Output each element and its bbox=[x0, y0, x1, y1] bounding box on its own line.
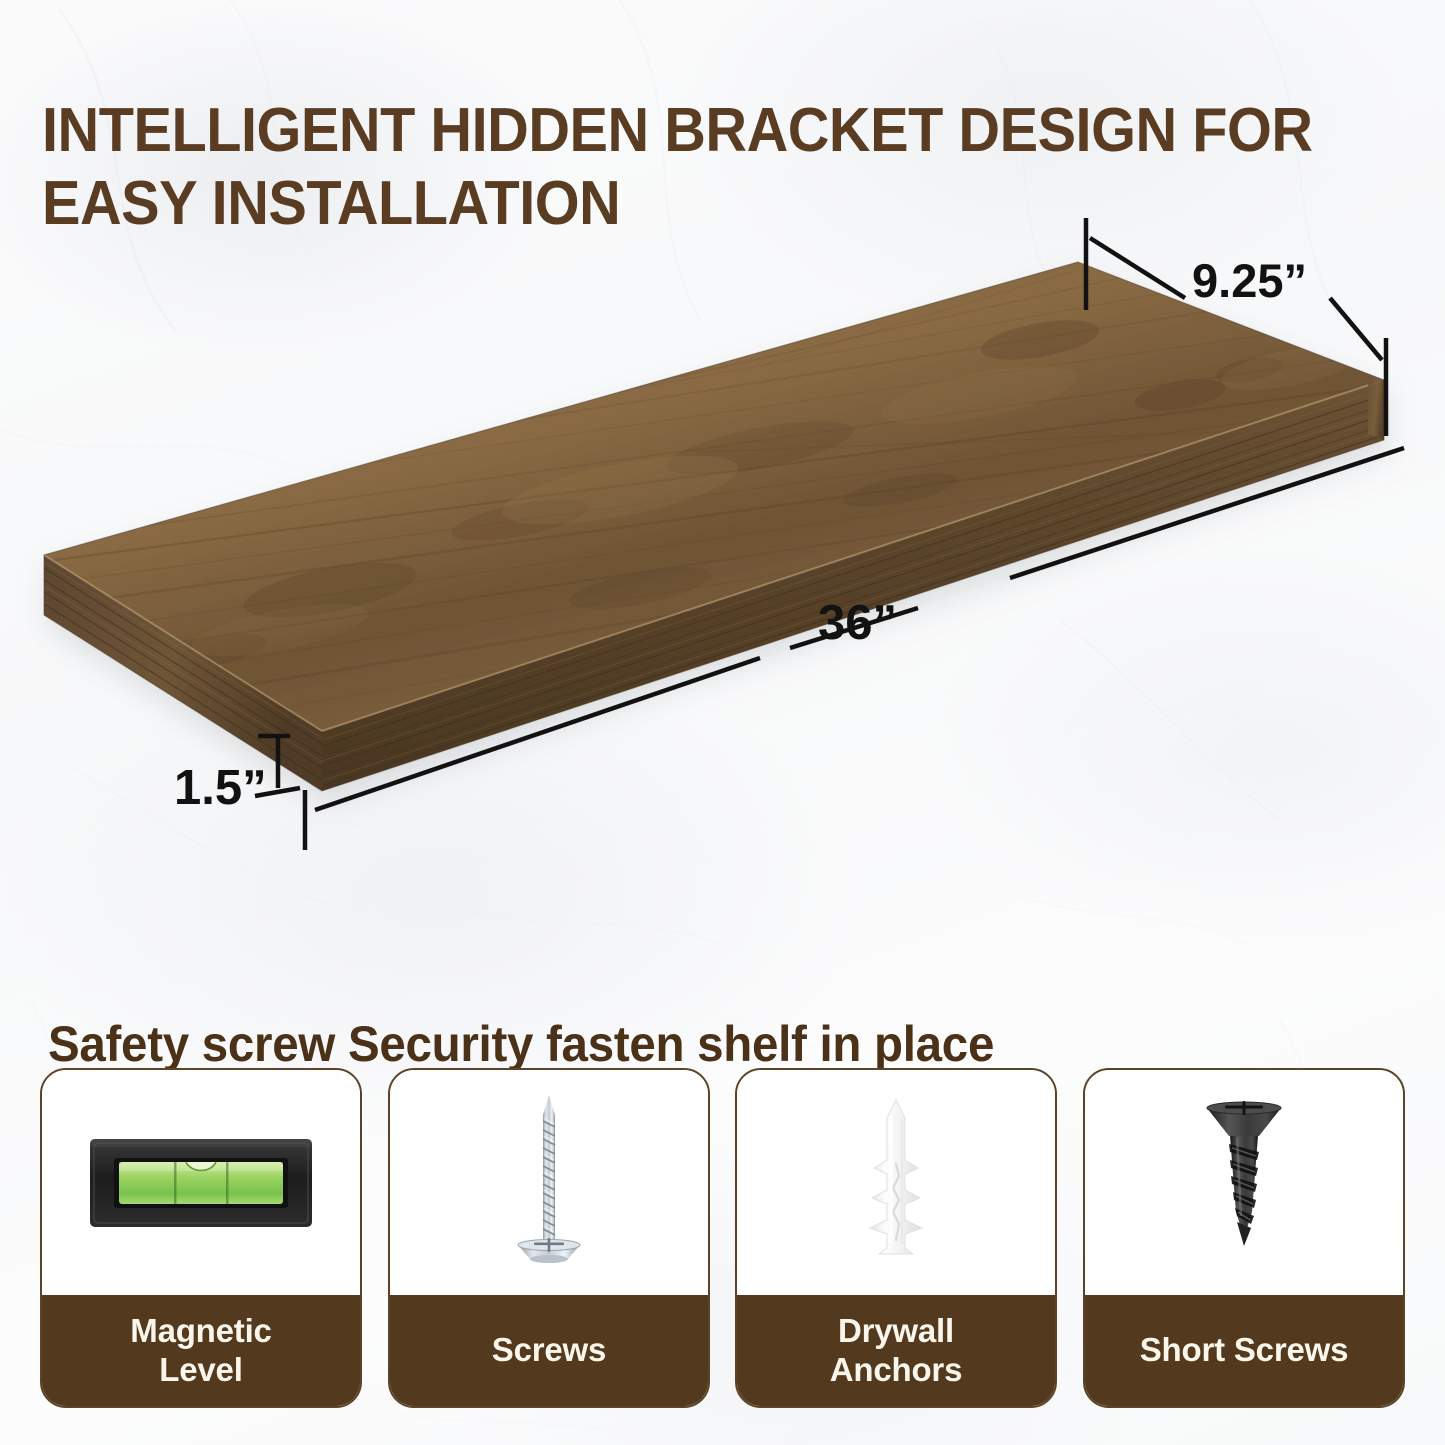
hardware-card-screws[interactable]: Screws bbox=[388, 1068, 710, 1408]
drywall-anchor-icon bbox=[841, 1094, 951, 1274]
card-label-text: Short Screws bbox=[1140, 1331, 1349, 1369]
card-label-short-screws: Short Screws bbox=[1085, 1295, 1403, 1406]
dimension-label-depth: 9.25” bbox=[1192, 253, 1307, 308]
card-label-text: Drywall Anchors bbox=[830, 1312, 962, 1389]
card-label-text: Screws bbox=[492, 1331, 606, 1369]
shelf-board bbox=[30, 262, 1384, 791]
shelf-illustration: 9.25” 36” 1.5” bbox=[0, 190, 1445, 890]
hardware-card-short-screws[interactable]: Short Screws bbox=[1083, 1068, 1405, 1408]
card-label-screws: Screws bbox=[390, 1295, 708, 1406]
hardware-card-magnetic-level[interactable]: Magnetic Level bbox=[40, 1068, 362, 1408]
hardware-card-drywall-anchors[interactable]: Drywall Anchors bbox=[735, 1068, 1057, 1408]
card-image-area bbox=[1085, 1070, 1403, 1297]
dimension-label-length: 36” bbox=[818, 595, 897, 651]
card-image-area bbox=[737, 1070, 1055, 1297]
card-label-drywall-anchors: Drywall Anchors bbox=[737, 1295, 1055, 1406]
card-image-area bbox=[390, 1070, 708, 1297]
card-image-area bbox=[42, 1070, 360, 1297]
silver-screw-icon bbox=[504, 1089, 594, 1279]
section-title-safety: Safety screw Security fasten shelf in pl… bbox=[48, 1017, 1321, 1072]
dimension-label-height: 1.5” bbox=[174, 760, 267, 816]
spirit-level-icon bbox=[86, 1129, 316, 1239]
product-infographic: INTELLIGENT HIDDEN BRACKET DESIGN FOR EA… bbox=[0, 0, 1445, 1445]
black-short-screw-icon bbox=[1189, 1096, 1299, 1271]
dim-depth-right bbox=[1330, 298, 1382, 360]
card-label-line-1: Magnetic Level bbox=[130, 1312, 271, 1389]
card-label-magnetic-level: Magnetic Level bbox=[42, 1295, 360, 1406]
